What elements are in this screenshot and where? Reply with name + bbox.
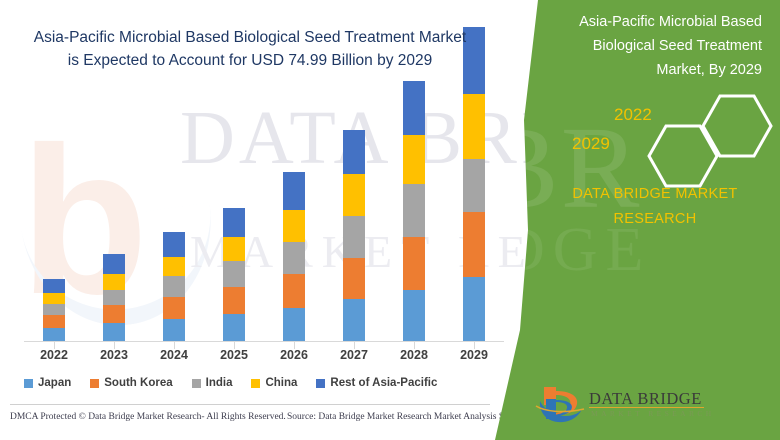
bar-segment[interactable] xyxy=(403,135,425,184)
brand-title-line-2: Biological Seed Treatment xyxy=(538,34,762,58)
bar-segment[interactable] xyxy=(103,305,125,322)
bar-segment[interactable] xyxy=(403,237,425,290)
legend-label: Rest of Asia-Pacific xyxy=(330,377,437,389)
bar-segment[interactable] xyxy=(283,210,305,242)
bar-segment[interactable] xyxy=(163,232,185,257)
hexagon-2029-icon xyxy=(649,126,717,186)
bar-segment[interactable] xyxy=(343,174,365,216)
infographic-slide: b DATA BRIDGE MARKET RESEARCH Asia-Pacif… xyxy=(0,0,780,440)
chart-legend: JapanSouth KoreaIndiaChinaRest of Asia-P… xyxy=(24,374,504,392)
bar-segment[interactable] xyxy=(223,314,245,341)
bar-segment[interactable] xyxy=(43,279,65,294)
legend-swatch-icon xyxy=(24,379,33,388)
bar-segment[interactable] xyxy=(283,172,305,210)
x-axis-label-2023: 2023 xyxy=(84,348,144,362)
hexagon-pair xyxy=(608,88,768,188)
stacked-bar[interactable] xyxy=(283,172,305,341)
brand-panel-content: BR DGE Asia-Pacific Microbial Based Biol… xyxy=(520,0,780,440)
bar-segment[interactable] xyxy=(43,315,65,327)
legend-label: South Korea xyxy=(104,377,172,389)
data-bridge-logo[interactable]: DATA BRIDGE MARKET RESEARCH xyxy=(534,385,734,425)
bar-segment[interactable] xyxy=(223,208,245,237)
bar-segment[interactable] xyxy=(463,212,485,277)
brand-name-block: DATA BRIDGE MARKET RESEARCH xyxy=(530,182,780,232)
page-title-line-1: Asia-Pacific Microbial Based Biological … xyxy=(0,26,500,49)
logo-tagline: MARKET RESEARCH xyxy=(591,409,715,418)
legend-item[interactable]: Japan xyxy=(24,377,71,389)
stacked-bar[interactable] xyxy=(163,232,185,341)
legend-swatch-icon xyxy=(316,379,325,388)
bar-segment[interactable] xyxy=(463,94,485,159)
stacked-bar[interactable] xyxy=(463,27,485,341)
stacked-bar-chart xyxy=(24,96,504,344)
footer: DMCA Protected © Data Bridge Market Rese… xyxy=(10,412,510,432)
bar-segment[interactable] xyxy=(163,276,185,297)
legend-item[interactable]: China xyxy=(251,377,297,389)
chart-baseline-axis xyxy=(24,341,504,342)
bar-segment[interactable] xyxy=(283,308,305,341)
bar-segment[interactable] xyxy=(163,319,185,341)
stacked-bar[interactable] xyxy=(103,254,125,341)
bar-group xyxy=(144,96,204,341)
bar-group xyxy=(24,96,84,341)
footer-dmca-notice: DMCA Protected © Data Bridge Market Rese… xyxy=(10,412,286,422)
legend-item[interactable]: India xyxy=(192,377,233,389)
bar-segment[interactable] xyxy=(283,242,305,274)
stacked-bar[interactable] xyxy=(343,130,365,341)
bar-segment[interactable] xyxy=(343,130,365,174)
bar-segment[interactable] xyxy=(103,290,125,306)
legend-label: Japan xyxy=(38,377,71,389)
legend-item[interactable]: Rest of Asia-Pacific xyxy=(316,377,437,389)
bar-group xyxy=(264,96,324,341)
x-axis-label-2022: 2022 xyxy=(24,348,84,362)
bar-segment[interactable] xyxy=(103,323,125,341)
brand-name-line-1: DATA BRIDGE MARKET xyxy=(530,182,780,207)
legend-swatch-icon xyxy=(90,379,99,388)
page-title: Asia-Pacific Microbial Based Biological … xyxy=(0,26,500,72)
logo-mark-icon xyxy=(534,385,586,425)
logo-wordmark: DATA BRIDGE xyxy=(589,389,702,409)
stacked-bar[interactable] xyxy=(223,207,245,341)
bar-group xyxy=(84,96,144,341)
bar-segment[interactable] xyxy=(43,304,65,315)
bar-segment[interactable] xyxy=(43,293,65,304)
x-axis-label-2027: 2027 xyxy=(324,348,384,362)
x-axis-label-2029: 2029 xyxy=(444,348,504,362)
page-title-line-2: is Expected to Account for USD 74.99 Bil… xyxy=(0,49,500,72)
bar-group xyxy=(324,96,384,341)
bar-segment[interactable] xyxy=(403,81,425,135)
hexagon-2029-label: 2029 xyxy=(572,134,610,154)
bar-segment[interactable] xyxy=(343,216,365,258)
stacked-bar[interactable] xyxy=(403,81,425,341)
bar-segment[interactable] xyxy=(403,184,425,237)
bar-group xyxy=(204,96,264,341)
legend-swatch-icon xyxy=(251,379,260,388)
legend-label: India xyxy=(206,377,233,389)
bar-segment[interactable] xyxy=(223,287,245,314)
bar-segment[interactable] xyxy=(163,297,185,319)
legend-item[interactable]: South Korea xyxy=(90,377,172,389)
bar-segment[interactable] xyxy=(343,258,365,300)
legend-label: China xyxy=(265,377,297,389)
brand-name-line-2: RESEARCH xyxy=(530,207,780,232)
chart-plot-area xyxy=(24,96,504,342)
legend-swatch-icon xyxy=(192,379,201,388)
bar-segment[interactable] xyxy=(43,328,65,341)
x-axis-label-2028: 2028 xyxy=(384,348,444,362)
bar-group xyxy=(384,96,444,341)
bar-segment[interactable] xyxy=(103,274,125,290)
bar-segment[interactable] xyxy=(103,254,125,274)
bar-segment[interactable] xyxy=(283,274,305,308)
logo-underline xyxy=(589,407,704,408)
stacked-bar[interactable] xyxy=(43,279,65,341)
bar-segment[interactable] xyxy=(403,290,425,341)
bar-segment[interactable] xyxy=(463,277,485,341)
x-axis-label-2026: 2026 xyxy=(264,348,324,362)
x-axis-label-2024: 2024 xyxy=(144,348,204,362)
hexagon-2022-label: 2022 xyxy=(614,105,652,125)
bar-segment[interactable] xyxy=(223,237,245,262)
chart-panel: b DATA BRIDGE MARKET RESEARCH Asia-Pacif… xyxy=(0,0,540,440)
bar-segment[interactable] xyxy=(343,299,365,341)
chart-x-axis-labels: 20222023202420252026202720282029 xyxy=(24,348,504,366)
brand-panel-title: Asia-Pacific Microbial Based Biological … xyxy=(538,10,770,82)
bar-group xyxy=(444,96,504,341)
bar-segment[interactable] xyxy=(463,159,485,213)
brand-title-line-1: Asia-Pacific Microbial Based xyxy=(538,10,762,34)
brand-title-line-3: Market, By 2029 xyxy=(538,58,762,82)
x-axis-label-2025: 2025 xyxy=(204,348,264,362)
bar-segment[interactable] xyxy=(163,257,185,277)
footer-divider xyxy=(10,404,490,405)
bar-segment[interactable] xyxy=(223,261,245,287)
